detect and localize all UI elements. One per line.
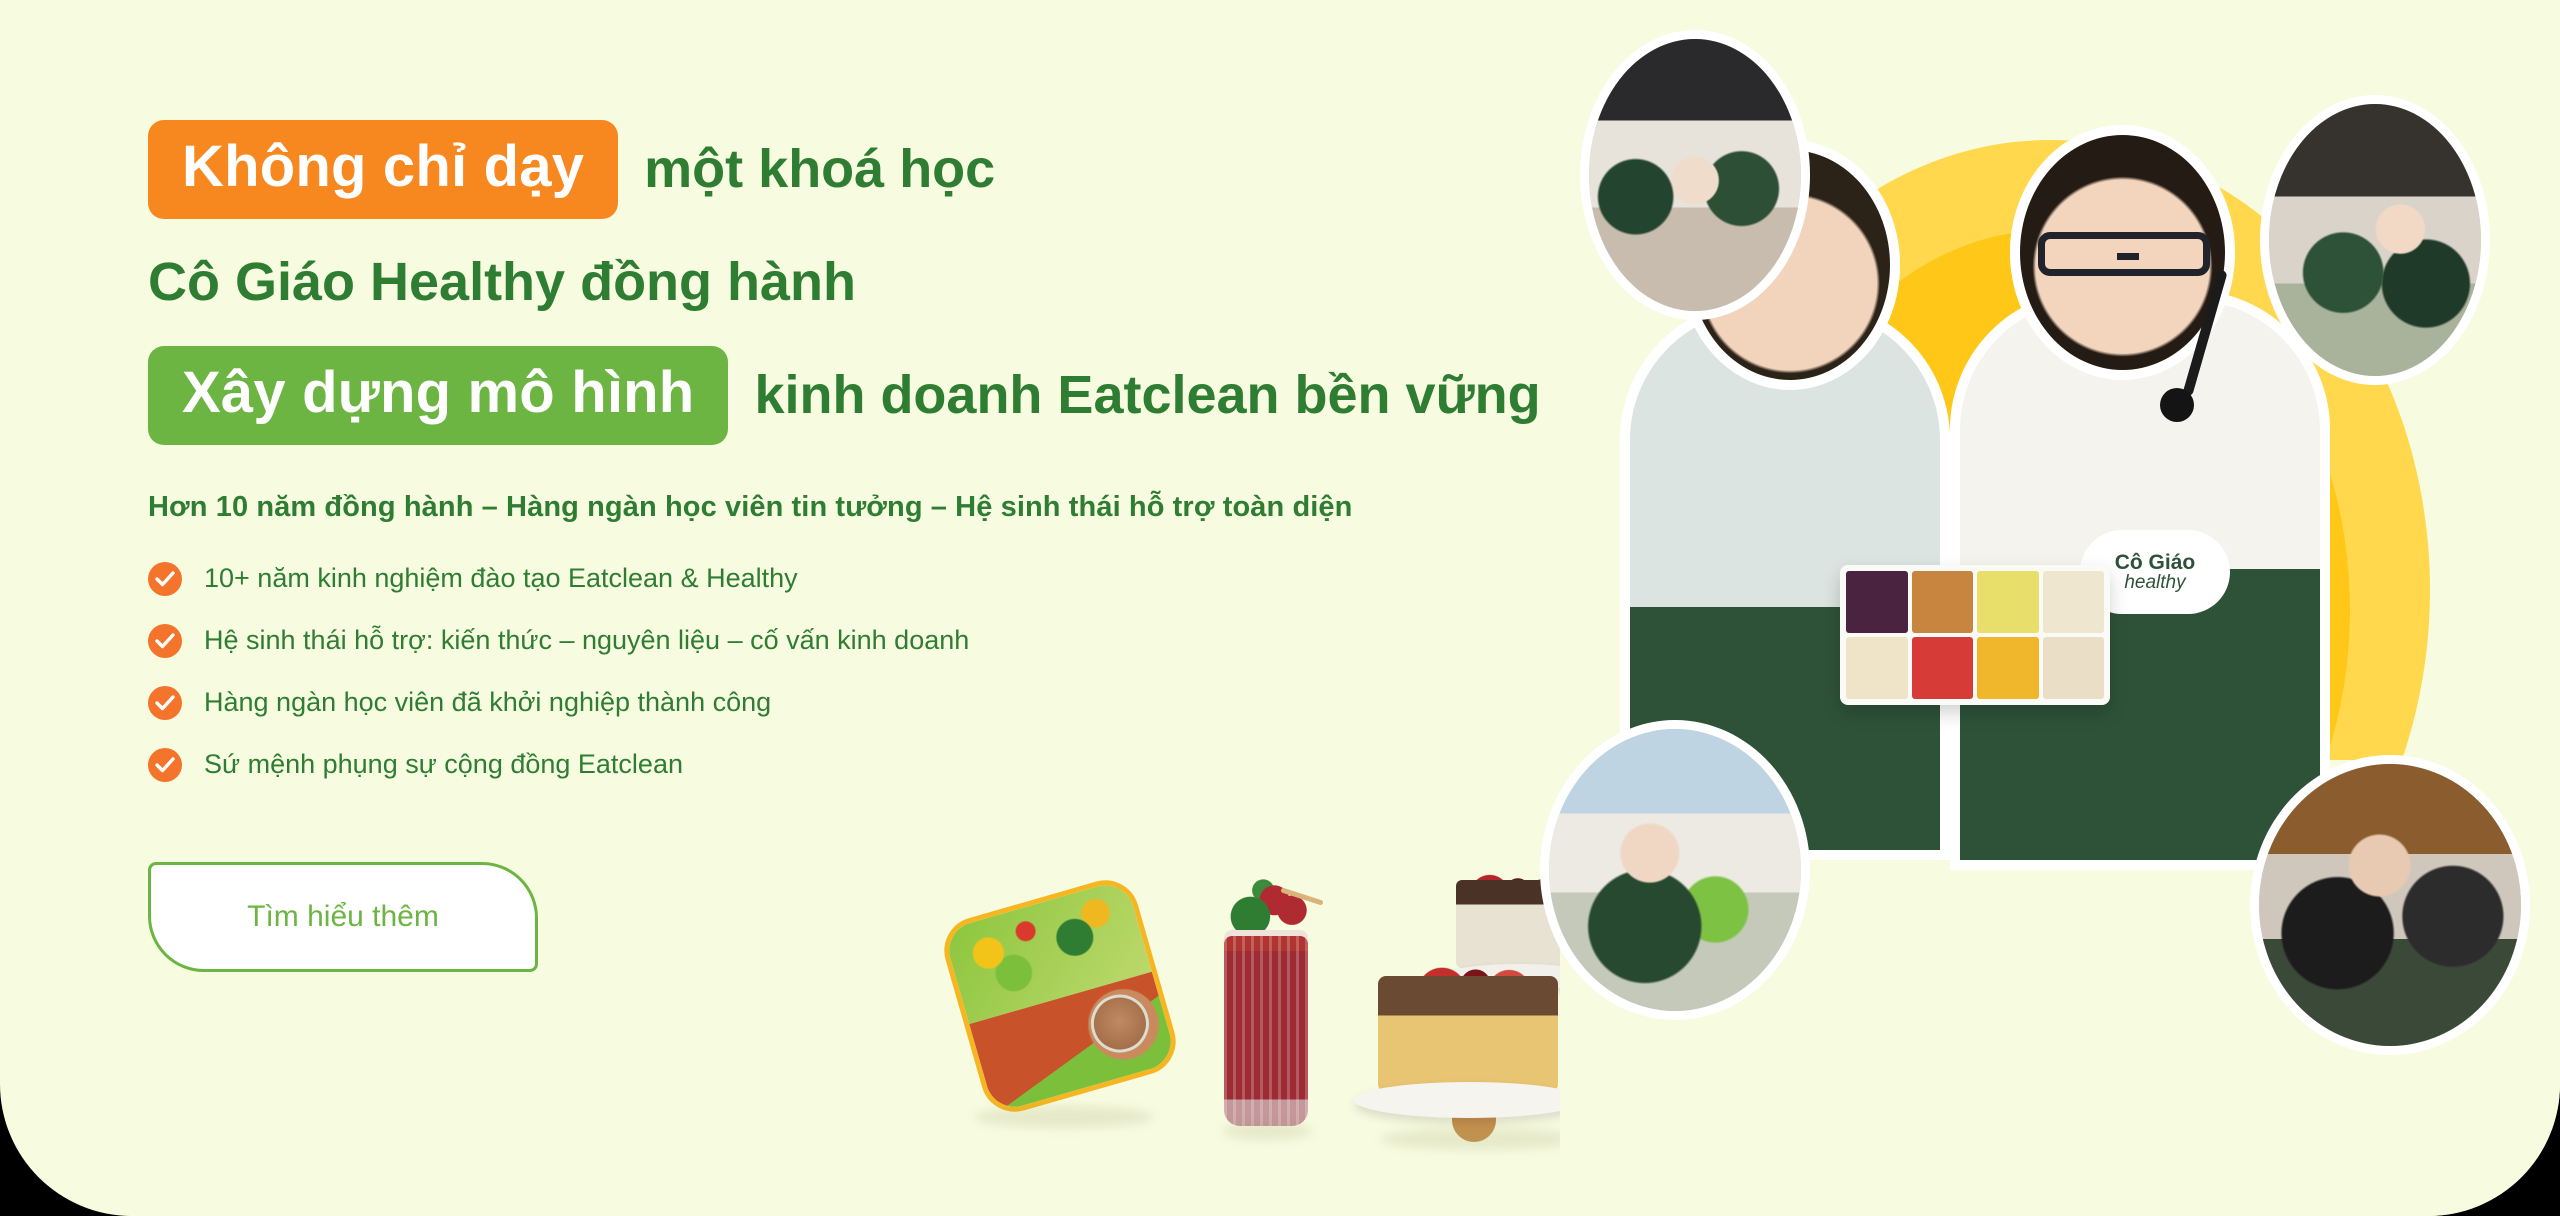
photo-bubble-blender-workshop: [2260, 95, 2490, 385]
headline-line1-text: một khoá học: [644, 140, 995, 199]
eatclean-salad-bento-image: [936, 872, 1183, 1119]
drink-shadow: [1222, 1122, 1312, 1140]
list-item-label: Hàng ngàn học viên đã khởi nghiệp thành …: [204, 687, 771, 718]
check-circle-icon: [148, 624, 182, 658]
learn-more-button[interactable]: Tìm hiểu thêm: [148, 862, 538, 972]
headset-mic-bud: [2160, 388, 2194, 422]
list-item: 10+ năm kinh nghiệm đào tạo Eatclean & H…: [148, 562, 1568, 596]
check-circle-icon: [148, 562, 182, 596]
copy-column: Không chỉ dạy một khoá học Cô Giáo Healt…: [148, 120, 1568, 972]
headline-line-2: Cô Giáo Healthy đồng hành: [148, 253, 1568, 312]
list-item-label: Hệ sinh thái hỗ trợ: kiến thức – nguyên …: [204, 625, 969, 656]
headline-line3-text: kinh doanh Eatclean bền vững: [754, 366, 1540, 425]
headline-badge-primary: Không chỉ dạy: [148, 120, 618, 219]
glasses-icon: [2038, 232, 2210, 276]
food-showcase: [960, 856, 1600, 1156]
list-item: Hàng ngàn học viên đã khởi nghiệp thành …: [148, 686, 1568, 720]
photo-bubble-pouring-green-smoothie-class: [1540, 720, 1810, 1020]
headline-line-3: Xây dựng mô hình kinh doanh Eatclean bền…: [148, 346, 1568, 445]
check-circle-icon: [148, 686, 182, 720]
held-dessert-tray: [1840, 565, 2110, 705]
photo-bubble-tasting-matcha-class: [2250, 755, 2530, 1055]
benefit-list: 10+ năm kinh nghiệm đào tạo Eatclean & H…: [148, 562, 1568, 782]
check-circle-icon: [148, 748, 182, 782]
hero-image-cluster: Cô Giáo healthy: [1560, 0, 2560, 1216]
berry-mocktail-drink-image: [1210, 864, 1320, 1129]
bento-shadow: [974, 1106, 1154, 1128]
list-item: Sứ mệnh phụng sự cộng đồng Eatclean: [148, 748, 1568, 782]
list-item: Hệ sinh thái hỗ trợ: kiến thức – nguyên …: [148, 624, 1568, 658]
sub-headline: Hơn 10 năm đồng hành – Hàng ngàn học viê…: [148, 491, 1568, 524]
list-item-label: 10+ năm kinh nghiệm đào tạo Eatclean & H…: [204, 563, 798, 594]
list-item-label: Sứ mệnh phụng sự cộng đồng Eatclean: [204, 749, 683, 780]
cakes-shadow: [1380, 1128, 1580, 1150]
headline-badge-secondary: Xây dựng mô hình: [148, 346, 728, 445]
photo-bubble-students-plating-class: [1580, 30, 1810, 320]
promo-banner: Không chỉ dạy một khoá học Cô Giáo Healt…: [0, 0, 2560, 1216]
headline-line-1: Không chỉ dạy một khoá học: [148, 120, 1568, 219]
